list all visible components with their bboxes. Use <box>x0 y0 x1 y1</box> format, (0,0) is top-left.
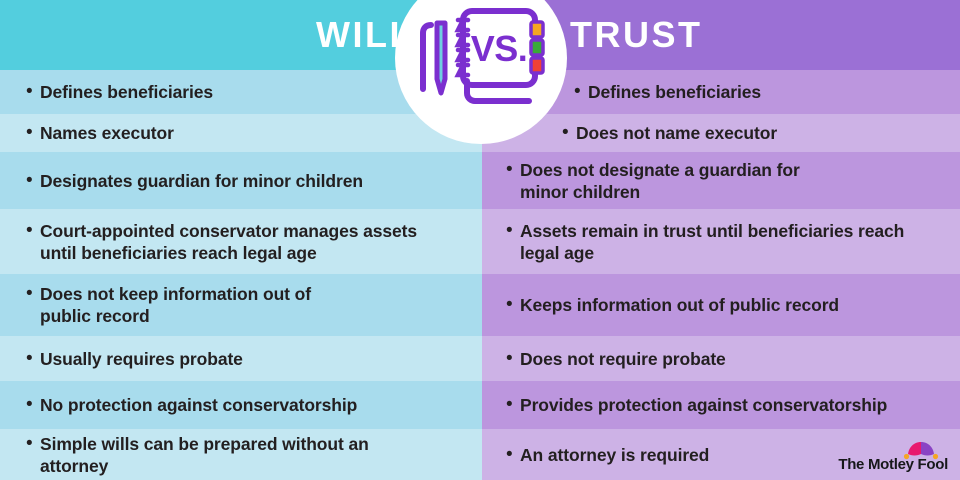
list-item: • Court-appointed conservator manages as… <box>0 209 482 274</box>
list-item-label: Designates guardian for minor children <box>40 170 363 192</box>
bullet-icon: • <box>506 444 520 466</box>
list-item-label: Does not require probate <box>520 348 726 370</box>
list-item-label: No protection against conservatorship <box>40 394 357 416</box>
list-item: • Does not keep information out of publi… <box>0 274 482 336</box>
bullet-icon: • <box>506 220 520 242</box>
logo-text: The Motley Fool <box>838 457 948 472</box>
right-column-list: • Defines beneficiaries • Does not name … <box>482 70 960 480</box>
list-item: • Does not require probate <box>482 336 960 381</box>
svg-text:VS.: VS. <box>471 28 528 69</box>
left-column-list: • Defines beneficiaries • Names executor… <box>0 70 482 480</box>
notebook-pen-icon: VS. <box>417 3 545 113</box>
bullet-icon: • <box>26 81 40 103</box>
list-item-label: Defines beneficiaries <box>588 81 761 103</box>
bullet-icon: • <box>26 170 40 192</box>
list-item: • Names executor <box>0 114 482 152</box>
list-item-label: Assets remain in trust until beneficiari… <box>520 220 930 264</box>
bullet-icon: • <box>26 220 40 242</box>
bullet-icon: • <box>506 348 520 370</box>
list-item: • Designates guardian for minor children <box>0 152 482 209</box>
will-vs-trust-infographic: WILL TRUST • Defines beneficiaries • Nam… <box>0 0 960 480</box>
list-item-label: Does not keep information out of public … <box>40 283 360 327</box>
list-item-label: Does not designate a guardian for minor … <box>520 159 850 203</box>
list-item-label: Keeps information out of public record <box>520 294 839 316</box>
bullet-icon: • <box>26 433 40 455</box>
list-item-label: Names executor <box>40 122 174 144</box>
list-item: • Keeps information out of public record <box>482 274 960 336</box>
list-item-label: Provides protection against conservators… <box>520 394 887 416</box>
list-item: • Simple wills can be prepared without a… <box>0 429 482 480</box>
bullet-icon: • <box>562 122 576 144</box>
list-item: • Assets remain in trust until beneficia… <box>482 209 960 274</box>
bullet-icon: • <box>26 348 40 370</box>
list-item-label: Does not name executor <box>576 122 777 144</box>
bullet-icon: • <box>506 294 520 316</box>
list-item: • No protection against conservatorship <box>0 381 482 429</box>
bullet-icon: • <box>26 394 40 416</box>
list-item: • Does not name executor <box>482 114 960 152</box>
bullet-icon: • <box>506 394 520 416</box>
motley-fool-logo: The Motley Fool <box>838 438 948 472</box>
list-item-label: An attorney is required <box>520 444 709 466</box>
right-column-title: TRUST <box>570 17 703 53</box>
bullet-icon: • <box>506 159 520 181</box>
list-item-label: Usually requires probate <box>40 348 243 370</box>
list-item-label: Defines beneficiaries <box>40 81 213 103</box>
list-item-label: Court-appointed conservator manages asse… <box>40 220 432 264</box>
list-item: • Provides protection against conservato… <box>482 381 960 429</box>
bullet-icon: • <box>26 122 40 144</box>
bullet-icon: • <box>26 283 40 305</box>
list-item: • Usually requires probate <box>0 336 482 381</box>
list-item-label: Simple wills can be prepared without an … <box>40 433 400 477</box>
bullet-icon: • <box>574 81 588 103</box>
list-item: • Does not designate a guardian for mino… <box>482 152 960 209</box>
